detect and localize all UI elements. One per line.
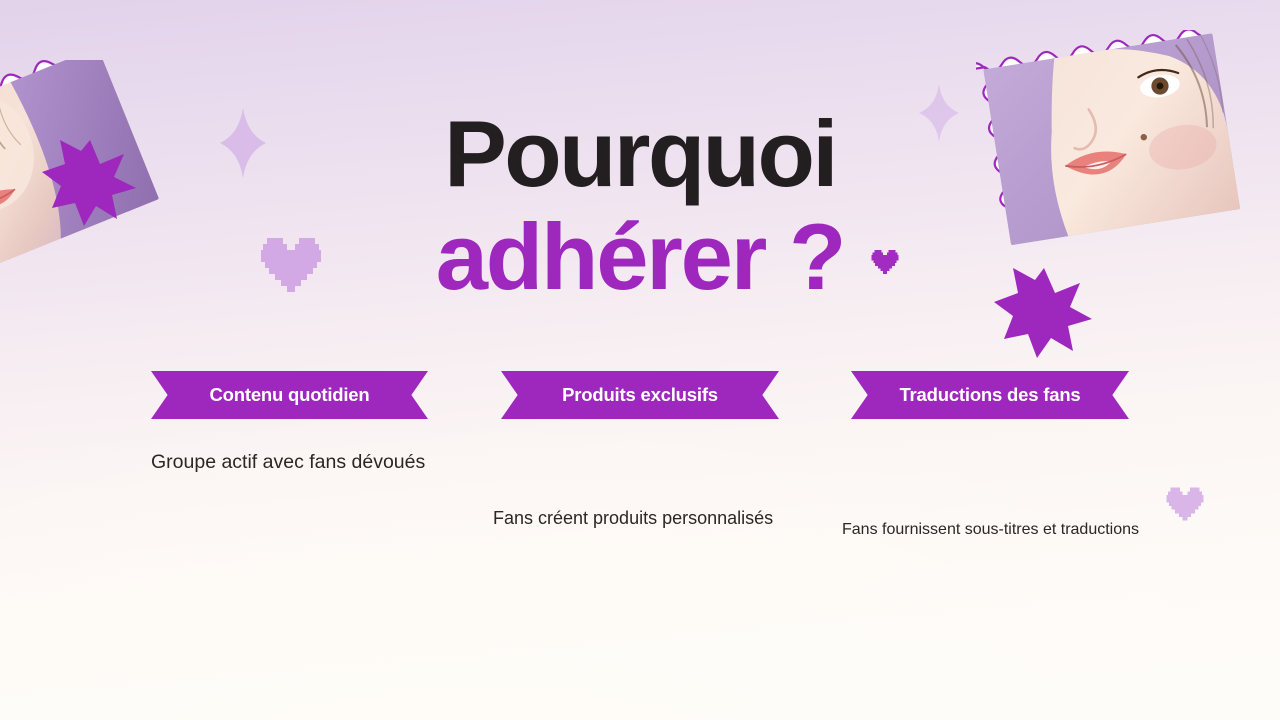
feature-caption-1: Groupe actif avec fans dévoués <box>151 451 425 474</box>
feature-caption-2: Fans créent produits personnalisés <box>493 508 773 529</box>
feature-caption-3: Fans fournissent sous-titres et traducti… <box>842 521 1139 539</box>
feature-ribbon-1[interactable]: Contenu quotidien <box>151 371 428 419</box>
pixel-heart-icon <box>1163 484 1207 522</box>
feature-ribbon-label: Traductions des fans <box>899 384 1080 406</box>
title-line-primary: Pourquoi <box>0 104 1280 204</box>
feature-ribbon-label: Produits exclusifs <box>562 384 718 406</box>
feature-ribbon-2[interactable]: Produits exclusifs <box>501 371 779 419</box>
page-title: Pourquoi adhérer ? <box>0 104 1280 309</box>
feature-ribbon-label: Contenu quotidien <box>210 384 370 406</box>
slide-canvas: Pourquoi adhérer ? Contenu quotidien Pro… <box>0 0 1280 720</box>
feature-ribbon-3[interactable]: Traductions des fans <box>851 371 1129 419</box>
title-line-accent: adhérer ? <box>0 204 1280 309</box>
